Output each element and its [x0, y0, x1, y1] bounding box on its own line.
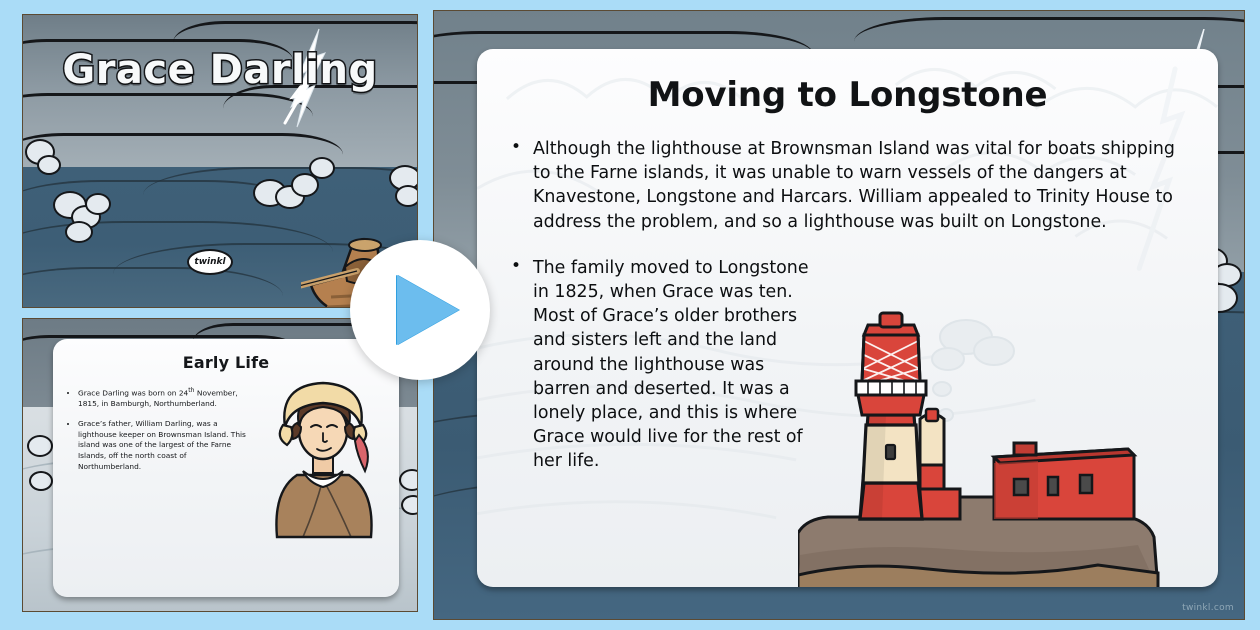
sea-foam: [395, 185, 418, 207]
sea-foam: [27, 435, 53, 457]
sea-foam: [29, 471, 53, 491]
sea-foam: [85, 193, 111, 215]
list-item: Although the lighthouse at Brownsman Isl…: [511, 137, 1190, 234]
sea-foam: [399, 469, 418, 491]
thumbnail-slide-title[interactable]: Grace Darling twinkl: [22, 14, 418, 308]
twinkl-logo: twinkl: [187, 249, 233, 275]
watermark: twinkl.com: [1182, 603, 1234, 613]
longstone-lighthouse-icon: [798, 297, 1218, 587]
main-slide[interactable]: Moving to Longstone Although the lightho…: [433, 10, 1245, 620]
slide-content-card: Moving to Longstone Although the lightho…: [477, 49, 1218, 587]
bullet-list: Grace Darling was born on 24th November,…: [67, 387, 247, 482]
list-item: The family moved to Longstone in 1825, w…: [511, 256, 811, 474]
slide-title-text: Grace Darling: [23, 47, 417, 93]
play-triangle-icon: [397, 275, 459, 345]
sea-foam: [65, 221, 93, 243]
sea-foam: [37, 155, 61, 175]
play-button[interactable]: [350, 240, 490, 380]
slide-title-text: Early Life: [53, 353, 399, 372]
bullet-text-part: Grace Darling was born on 24: [78, 388, 188, 397]
page-title: Moving to Longstone: [477, 75, 1218, 115]
grace-darling-portrait-icon: [263, 379, 383, 539]
slide-content-card: Early Life Grace Darling was born on 24t…: [53, 339, 399, 597]
sea-foam: [309, 157, 335, 179]
presentation-preview: Grace Darling twinkl Early Life: [0, 0, 1260, 630]
list-item: Grace Darling was born on 24th November,…: [78, 387, 247, 410]
list-item: Grace’s father, William Darling, was a l…: [78, 419, 247, 473]
thumbnail-slide-early-life[interactable]: Early Life Grace Darling was born on 24t…: [22, 318, 418, 612]
wave-line: [22, 267, 283, 308]
sea-foam: [401, 495, 418, 515]
